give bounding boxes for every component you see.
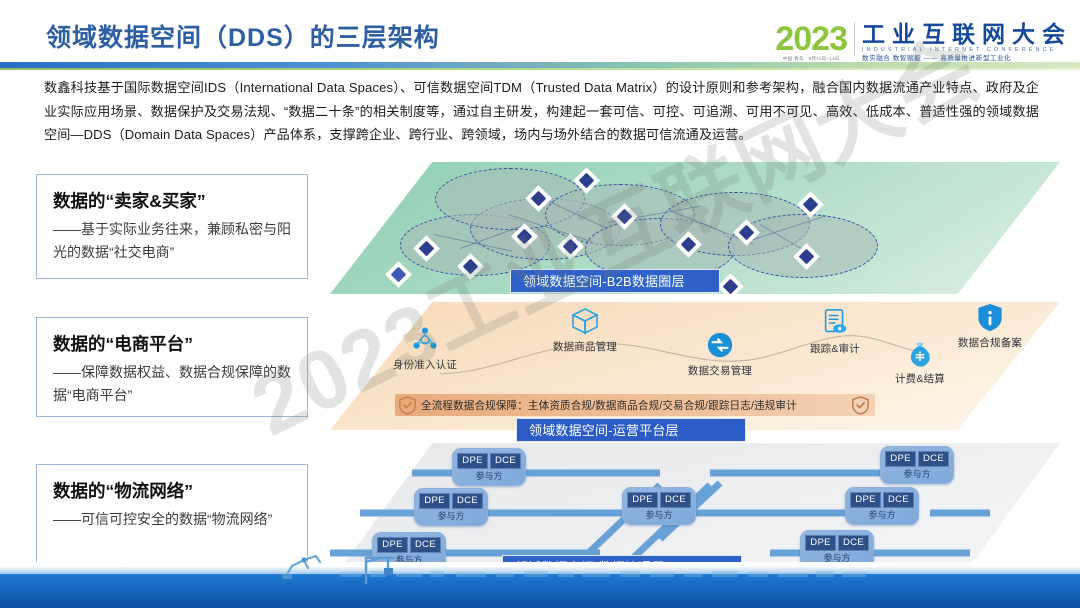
logo-year: 2023 [775, 22, 847, 56]
shield-check-icon [852, 396, 869, 415]
card-title: 数据的“卖家&买家” [53, 189, 293, 213]
compliance-text: 全流程数据合规保障：主体资质合规/数据商品合规/交易合规/跟踪日志/违规审计 [421, 398, 797, 413]
flow-item-identity: 身份准入认证 [385, 322, 465, 372]
participant-label: 参与方 [885, 468, 949, 480]
flow-item-goods: 数据商品管理 [545, 304, 625, 354]
logo-slogan: 数实融合 数智赋能 —— 高质量推进新型工业化 [862, 54, 1072, 63]
logo-name-en: INDUSTRIAL INTERNET CONFERENCE [862, 46, 1072, 54]
cell-dpe: DPE [627, 492, 658, 508]
identity-network-icon [385, 322, 465, 356]
port-silhouette [330, 570, 890, 578]
cell-dce: DCE [452, 493, 483, 509]
slide-canvas: 领域数据空间（DDS）的三层架构 2023 中国·青岛 · 9月11日–13日 … [0, 0, 1080, 608]
flow-item-trade: 数据交易管理 [680, 328, 760, 378]
card-sellers-buyers: 数据的“卖家&买家” ——基于实际业务往来，兼顾私密与阳光的数据“社交电商” [36, 174, 308, 279]
shield-check-icon [399, 396, 416, 415]
card-subtitle: ——保障数据权益、数据合规保障的数据“电商平台” [53, 361, 293, 407]
compliance-bar: 全流程数据合规保障：主体资质合规/数据商品合规/交易合规/跟踪日志/违规审计 [395, 394, 875, 416]
cell-dce: DCE [660, 492, 691, 508]
logo-year-block: 2023 中国·青岛 · 9月11日–13日 [775, 22, 847, 62]
flow-label: 数据交易管理 [680, 365, 760, 378]
participant-cells: DPE DCE [457, 453, 521, 469]
participant-label: 参与方 [850, 509, 914, 521]
cell-dce: DCE [918, 451, 949, 467]
card-ecommerce-platform: 数据的“电商平台” ——保障数据权益、数据合规保障的数据“电商平台” [36, 317, 308, 417]
flow-label: 数据商品管理 [545, 341, 625, 354]
cell-dce: DCE [838, 535, 869, 551]
cell-dpe: DPE [885, 451, 916, 467]
ribbon-operations-layer: 领域数据空间-运营平台层 [516, 418, 746, 442]
card-title: 数据的“物流网络” [53, 479, 293, 503]
participant-cells: DPE DCE [885, 451, 949, 467]
exchange-circle-icon [680, 328, 760, 362]
participant-label: 参与方 [627, 509, 691, 521]
logo-year-subtitle: 中国·青岛 · 9月11日–13日 [775, 56, 847, 62]
ribbon-b2b-layer: 领域数据空间-B2B数据圈层 [510, 269, 720, 293]
participant-node[interactable]: DPE DCE 参与方 [622, 487, 696, 525]
participant-box: DPE DCE 参与方 [845, 487, 919, 525]
participant-cells: DPE DCE [627, 492, 691, 508]
cell-dce: DCE [410, 537, 441, 553]
card-title: 数据的“电商平台” [53, 332, 293, 356]
bottom-band [0, 574, 1080, 608]
participant-cells: DPE DCE [419, 493, 483, 509]
robot-arm-icon [278, 546, 326, 580]
money-bag-icon [880, 336, 960, 370]
logo-divider [854, 22, 855, 56]
participant-node[interactable]: DPE DCE 参与方 [452, 448, 526, 486]
participant-node[interactable]: DPE DCE 参与方 [414, 488, 488, 526]
shield-info-icon [950, 300, 1030, 334]
intro-paragraph: 数鑫科技基于国际数据空间IDS（International Data Space… [44, 76, 1039, 147]
cell-dpe: DPE [457, 453, 488, 469]
flow-label: 身份准入认证 [385, 359, 465, 372]
logo-name-cn: 工业互联网大会 [862, 22, 1072, 46]
flow-label: 跟踪&审计 [795, 343, 875, 356]
flow-label: 计费&结算 [880, 373, 960, 386]
page-title: 领域数据空间（DDS）的三层架构 [46, 18, 440, 54]
flow-label: 数据合规备案 [950, 337, 1030, 350]
flow-item-billing: 计费&结算 [880, 336, 960, 386]
participant-node[interactable]: DPE DCE 参与方 [845, 487, 919, 525]
cube-icon [545, 304, 625, 338]
card-subtitle: ——基于实际业务往来，兼顾私密与阳光的数据“社交电商” [53, 218, 293, 264]
participant-node[interactable]: DPE DCE 参与方 [880, 446, 954, 484]
participant-cells: DPE DCE [805, 535, 869, 551]
title-divider-accent [0, 68, 1080, 70]
logo-name-block: 工业互联网大会 INDUSTRIAL INTERNET CONFERENCE 数… [862, 22, 1072, 63]
crane-icon [360, 550, 402, 586]
cell-dpe: DPE [805, 535, 836, 551]
participant-box: DPE DCE 参与方 [452, 448, 526, 486]
participant-box: DPE DCE 参与方 [880, 446, 954, 484]
card-subtitle: ——可信可控安全的数据“物流网络” [53, 508, 293, 531]
participant-box: DPE DCE 参与方 [622, 487, 696, 525]
conference-logo: 2023 中国·青岛 · 9月11日–13日 工业互联网大会 INDUSTRIA… [775, 22, 1072, 66]
card-logistics-network: 数据的“物流网络” ——可信可控安全的数据“物流网络” [36, 464, 308, 572]
document-eye-icon [795, 306, 875, 340]
participant-box: DPE DCE 参与方 [414, 488, 488, 526]
participant-cells: DPE DCE [850, 492, 914, 508]
participant-label: 参与方 [419, 510, 483, 522]
participant-label: 参与方 [457, 470, 521, 482]
flow-item-compliance-filing: 数据合规备案 [950, 300, 1030, 350]
cell-dpe: DPE [850, 492, 881, 508]
cell-dce: DCE [490, 453, 521, 469]
flow-item-audit: 跟踪&审计 [795, 306, 875, 356]
cell-dce: DCE [883, 492, 914, 508]
cell-dpe: DPE [419, 493, 450, 509]
